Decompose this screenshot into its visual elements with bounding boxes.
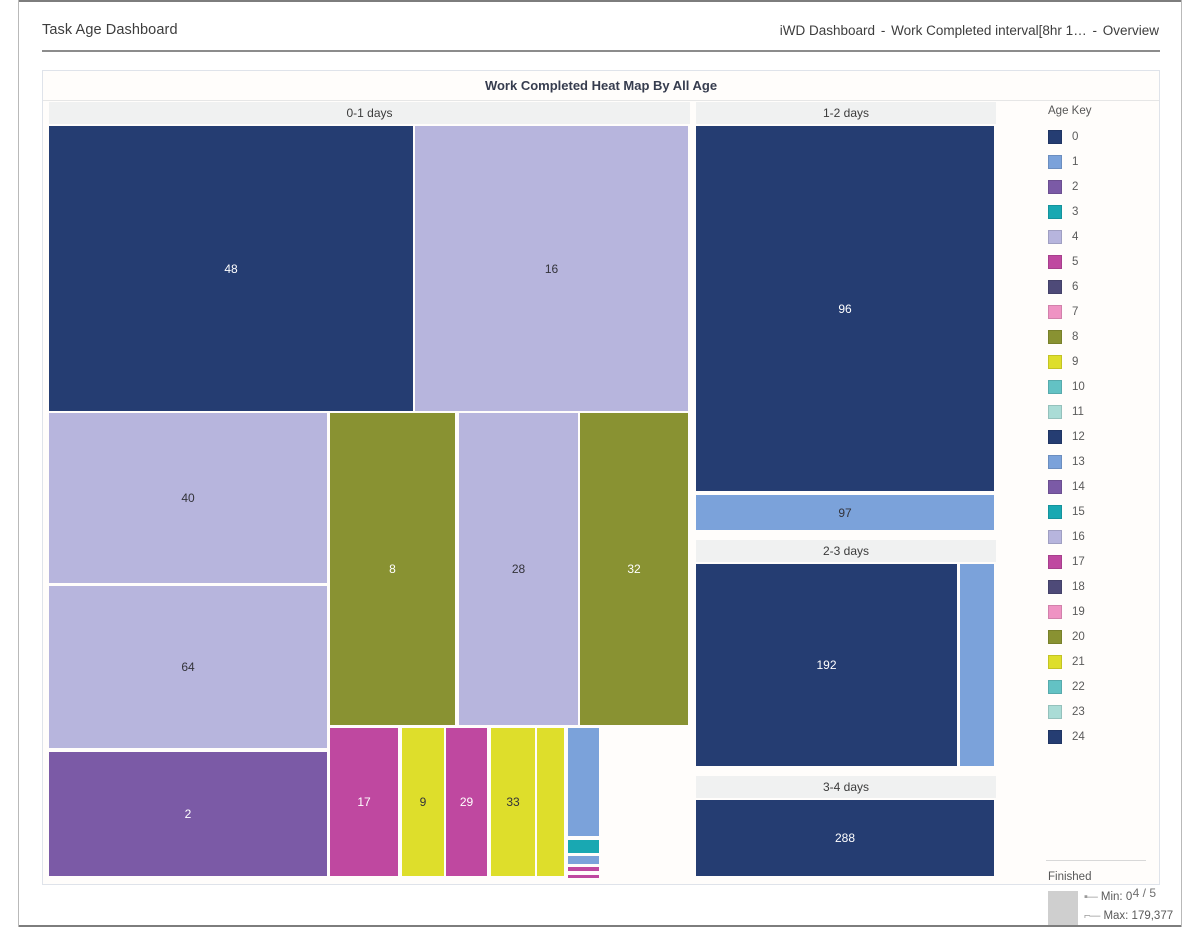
legend-item-label: 12 [1072,431,1085,443]
treemap-plot: 0-1 days4816406428283217929331-2 days969… [49,102,996,880]
finished-min-row: ▪— Min: 0 [1084,891,1132,903]
finished-max-row: ⌐— Max: 179,377 [1084,910,1173,922]
legend-swatch-icon [1048,405,1062,419]
header-rule [42,50,1160,52]
legend-swatch-icon [1048,730,1062,744]
legend-item-4[interactable]: 4 [1046,224,1154,249]
legend-swatch-icon [1048,555,1062,569]
chart-title-divider [43,100,1159,101]
treemap-tile[interactable]: 33 [491,728,535,876]
legend-item-label: 16 [1072,531,1085,543]
legend-item-label: 8 [1072,331,1078,343]
legend-item-24[interactable]: 24 [1046,724,1154,749]
legend-swatch-icon [1048,605,1062,619]
legend-swatch-icon [1048,630,1062,644]
treemap-tile-label: 288 [835,831,855,845]
legend-item-12[interactable]: 12 [1046,424,1154,449]
breadcrumb-separator: - [1092,23,1097,38]
treemap-tile-label: 28 [512,562,525,576]
treemap-tile[interactable]: 32 [580,413,688,725]
legend-title: Age Key [1048,105,1154,117]
treemap-tile-label: 29 [460,795,473,809]
treemap-group-header-2-3-days[interactable]: 2-3 days [696,540,996,562]
legend-item-label: 14 [1072,481,1085,493]
legend-swatch-icon [1048,155,1062,169]
legend-item-label: 11 [1072,406,1084,418]
finished-legend-title: Finished [1048,871,1196,883]
chart-title: Work Completed Heat Map By All Age [43,71,1159,100]
dashboard-header: Task Age Dashboard iWD Dashboard - Work … [42,22,1160,52]
legend-item-11[interactable]: 11 [1046,399,1154,424]
legend-item-20[interactable]: 20 [1046,624,1154,649]
legend-item-label: 24 [1072,731,1085,743]
treemap-tile[interactable]: 28 [459,413,578,725]
treemap-tile-label: 2 [185,807,192,821]
legend-item-16[interactable]: 16 [1046,524,1154,549]
legend-item-label: 2 [1072,181,1078,193]
treemap-group-header-1-2-days[interactable]: 1-2 days [696,102,996,124]
legend-item-label: 6 [1072,281,1078,293]
legend-item-8[interactable]: 8 [1046,324,1154,349]
legend-item-1[interactable]: 1 [1046,149,1154,174]
legend-item-23[interactable]: 23 [1046,699,1154,724]
legend-swatch-icon [1048,330,1062,344]
treemap-tile-label: 48 [224,262,237,276]
legend-swatch-icon [1048,280,1062,294]
treemap-tile[interactable]: 192 [696,564,957,766]
treemap-tile[interactable] [568,875,599,878]
legend-swatch-icon [1048,530,1062,544]
treemap-tile[interactable] [568,840,599,853]
treemap-tile[interactable]: 9 [402,728,444,876]
legend-swatch-icon [1048,430,1062,444]
legend-item-21[interactable]: 21 [1046,649,1154,674]
legend-swatch-icon [1048,355,1062,369]
legend-item-19[interactable]: 19 [1046,599,1154,624]
treemap-tile[interactable]: 17 [330,728,398,876]
legend-swatch-icon [1048,480,1062,494]
treemap-tile-label: 97 [838,506,851,520]
legend-item-6[interactable]: 6 [1046,274,1154,299]
treemap-tile-label: 40 [181,491,194,505]
treemap-tile[interactable] [960,564,994,766]
legend-swatch-icon [1048,255,1062,269]
legend-swatch-icon [1048,680,1062,694]
legend-item-17[interactable]: 17 [1046,549,1154,574]
legend-item-label: 22 [1072,681,1085,693]
legend-item-label: 10 [1072,381,1085,393]
age-key-legend: Age Key 01234567891011121314151617181920… [1046,105,1154,875]
legend-swatch-icon [1048,380,1062,394]
treemap-tile[interactable] [568,867,599,871]
legend-rows: 0123456789101112131415161718192021222324 [1046,124,1154,749]
legend-item-label: 9 [1072,356,1078,368]
legend-item-18[interactable]: 18 [1046,574,1154,599]
finished-gradient-swatch [1048,891,1078,925]
treemap-tile-label: 17 [357,795,370,809]
treemap-tile-label: 64 [181,660,194,674]
treemap-tile-label: 96 [838,302,851,316]
legend-item-label: 21 [1072,656,1085,668]
max-marker-icon: ⌐— [1084,910,1099,922]
legend-item-label: 1 [1072,156,1078,168]
finished-min-label: Min: 0 [1101,891,1132,903]
legend-item-2[interactable]: 2 [1046,174,1154,199]
treemap-tile[interactable]: 40 [49,413,327,583]
legend-item-7[interactable]: 7 [1046,299,1154,324]
breadcrumb-separator: - [881,23,886,38]
breadcrumb-item-dashboard[interactable]: iWD Dashboard [780,23,875,38]
treemap-tile[interactable]: 16 [415,126,688,411]
treemap-tile-label: 9 [420,795,427,809]
treemap-tile[interactable]: 8 [330,413,455,725]
legend-item-label: 23 [1072,706,1085,718]
treemap-tile-label: 16 [545,262,558,276]
treemap-tile-label: 8 [389,562,396,576]
treemap-group-header-0-1-days[interactable]: 0-1 days [49,102,690,124]
legend-swatch-icon [1048,655,1062,669]
legend-swatch-icon [1048,580,1062,594]
treemap-group-header-3-4-days[interactable]: 3-4 days [696,776,996,798]
treemap-tile-label: 33 [506,795,519,809]
page-title: Task Age Dashboard [42,22,178,38]
min-marker-icon: ▪— [1084,891,1097,903]
finished-size-legend: Finished ▪— Min: 0 ⌐— Max: 179,377 [1046,871,1196,935]
legend-item-label: 20 [1072,631,1085,643]
treemap-tile[interactable]: 97 [696,495,994,530]
legend-item-5[interactable]: 5 [1046,249,1154,274]
treemap-tile[interactable]: 29 [446,728,487,876]
legend-item-10[interactable]: 10 [1046,374,1154,399]
legend-item-label: 0 [1072,131,1078,143]
breadcrumb-item-interval[interactable]: Work Completed interval[8hr 1… [891,23,1087,38]
legend-swatch-icon [1048,705,1062,719]
page-indicator: 4 / 5 [1133,886,1156,900]
legend-swatch-icon [1048,455,1062,469]
legend-item-label: 17 [1072,556,1085,568]
breadcrumb: iWD Dashboard - Work Completed interval[… [779,23,1160,38]
treemap-tile[interactable]: 288 [696,800,994,876]
legend-swatch-icon [1048,130,1062,144]
legend-item-label: 15 [1072,506,1085,518]
treemap-tile[interactable]: 64 [49,586,327,748]
legend-item-label: 4 [1072,231,1078,243]
treemap-tile-label: 32 [627,562,640,576]
finished-legend-body: ▪— Min: 0 ⌐— Max: 179,377 [1046,889,1196,935]
legend-swatch-icon [1048,230,1062,244]
legend-item-label: 3 [1072,206,1078,218]
legend-item-14[interactable]: 14 [1046,474,1154,499]
legend-item-label: 18 [1072,581,1085,593]
legend-item-label: 5 [1072,256,1078,268]
legend-item-label: 19 [1072,606,1085,618]
breadcrumb-item-overview[interactable]: Overview [1103,23,1159,38]
legend-swatch-icon [1048,305,1062,319]
legend-item-label: 7 [1072,306,1078,318]
treemap-tile-label: 192 [816,658,836,672]
legend-item-0[interactable]: 0 [1046,124,1154,149]
treemap-tile[interactable] [568,728,599,836]
legend-divider [1046,860,1146,861]
heatmap-panel: Work Completed Heat Map By All Age 0-1 d… [42,70,1160,885]
legend-item-15[interactable]: 15 [1046,499,1154,524]
legend-item-3[interactable]: 3 [1046,199,1154,224]
finished-max-label: Max: 179,377 [1103,910,1173,922]
treemap-tile[interactable] [568,856,599,864]
legend-swatch-icon [1048,505,1062,519]
treemap-tile[interactable] [537,728,564,876]
legend-item-22[interactable]: 22 [1046,674,1154,699]
treemap-tile[interactable]: 96 [696,126,994,491]
legend-swatch-icon [1048,180,1062,194]
treemap-tile[interactable]: 48 [49,126,413,411]
legend-item-label: 13 [1072,456,1085,468]
legend-item-9[interactable]: 9 [1046,349,1154,374]
treemap-tile[interactable]: 2 [49,752,327,876]
legend-swatch-icon [1048,205,1062,219]
legend-item-13[interactable]: 13 [1046,449,1154,474]
